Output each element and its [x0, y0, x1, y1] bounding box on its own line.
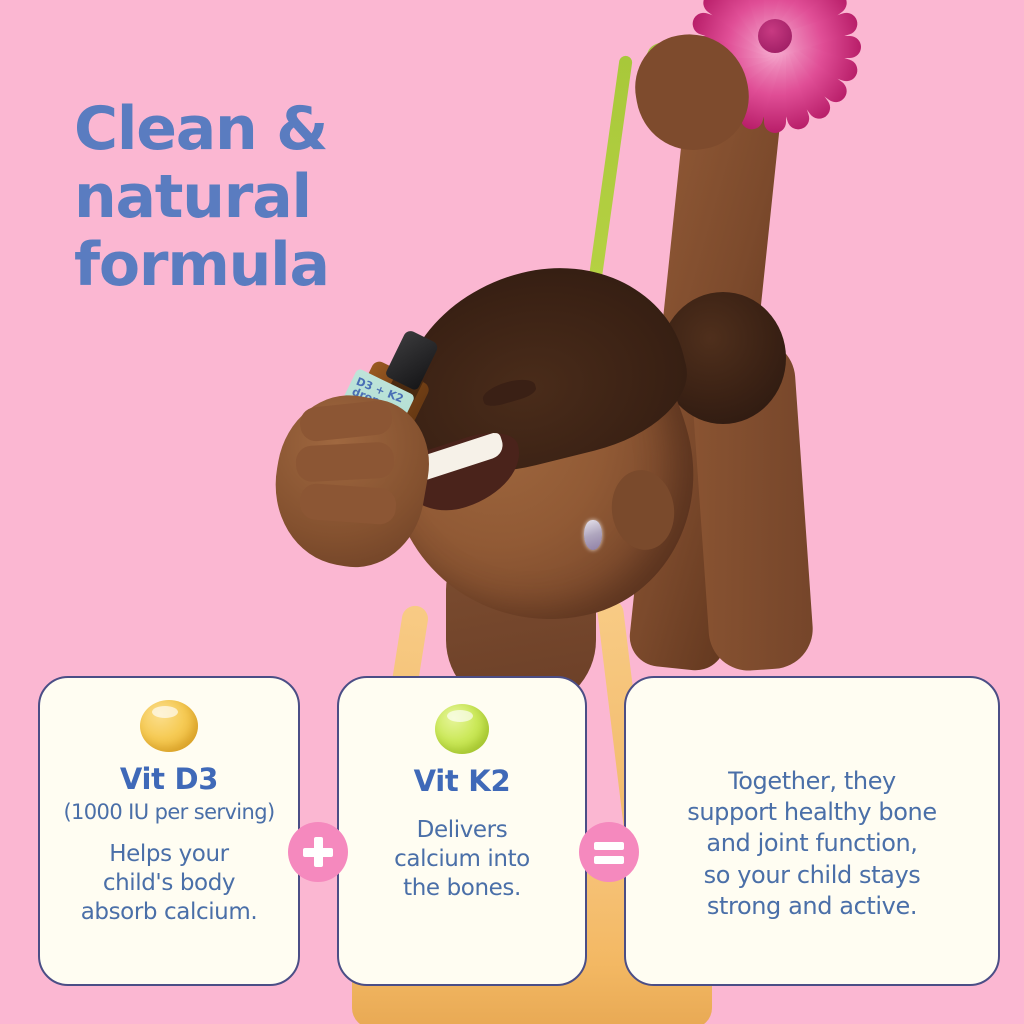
- card-body: Delivers calcium into the bones.: [394, 816, 530, 903]
- benefit-card-vit-k2: Vit K2 Delivers calcium into the bones.: [337, 676, 587, 986]
- green-droplet-icon: [435, 704, 489, 754]
- equals-badge: [579, 822, 639, 882]
- yellow-droplet-icon: [140, 700, 198, 752]
- product-benefits-poster: D3 + K2 drops Clean & natural formula Vi…: [0, 0, 1024, 1024]
- finger: [299, 483, 397, 526]
- equals-icon: [594, 856, 624, 864]
- finger: [295, 441, 395, 482]
- equals-icon: [594, 842, 624, 850]
- benefit-card-vit-d3: Vit D3 (1000 IU per serving) Helps your …: [38, 676, 300, 986]
- plus-badge: [288, 822, 348, 882]
- card-subtitle: (1000 IU per serving): [63, 800, 274, 824]
- benefit-card-together: Together, they support healthy bone and …: [624, 676, 1000, 986]
- card-title: Vit K2: [414, 766, 511, 798]
- card-title: Vit D3: [120, 764, 218, 796]
- plus-icon: [314, 837, 323, 867]
- page-title: Clean & natural formula: [74, 96, 474, 299]
- earring: [584, 520, 602, 550]
- card-body: Helps your child's body absorb calcium.: [81, 840, 258, 927]
- card-body: Together, they support healthy bone and …: [687, 766, 936, 922]
- flower-center: [758, 19, 792, 53]
